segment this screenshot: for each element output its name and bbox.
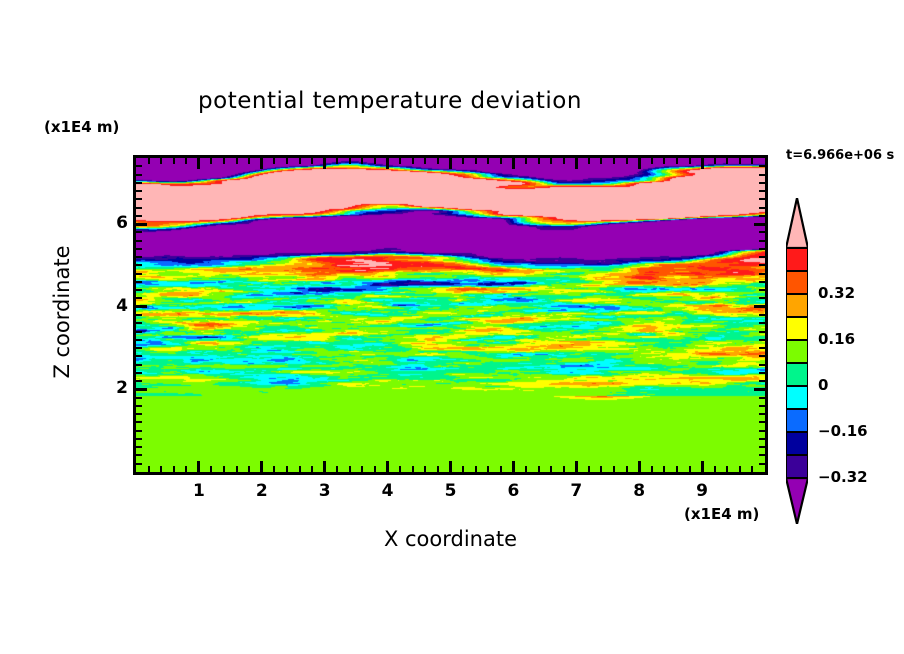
x-tick-label: 2 [242, 481, 282, 501]
colorbar-tick-label: 0.16 [818, 330, 855, 348]
colorbar-band [786, 340, 808, 363]
x-tick-labels: 123456789 [0, 0, 904, 654]
x-tick-label: 5 [431, 481, 471, 501]
colorbar-band [786, 271, 808, 294]
colorbar-tick-label: −0.16 [818, 422, 868, 440]
colorbar-band [786, 409, 808, 432]
colorbar-band [786, 432, 808, 455]
colorbar-band [786, 363, 808, 386]
colorbar-band [786, 317, 808, 340]
colorbar-band [786, 248, 808, 271]
x-tick-label: 9 [682, 481, 722, 501]
colorbar-tick-label: 0 [818, 376, 828, 394]
colorbar: 0.320.160−0.16−0.32 [782, 198, 812, 524]
colorbar-cap-min [786, 478, 808, 524]
x-tick-label: 3 [305, 481, 345, 501]
colorbar-band [786, 386, 808, 409]
x-tick-label: 8 [619, 481, 659, 501]
colorbar-tick-label: −0.32 [818, 468, 868, 486]
colorbar-cap-max [786, 198, 808, 248]
x-tick-label: 1 [179, 481, 219, 501]
colorbar-band [786, 294, 808, 317]
colorbar-band [786, 455, 808, 478]
x-tick-label: 7 [556, 481, 596, 501]
x-tick-label: 6 [493, 481, 533, 501]
colorbar-tick-label: 0.32 [818, 284, 855, 302]
x-tick-label: 4 [368, 481, 408, 501]
